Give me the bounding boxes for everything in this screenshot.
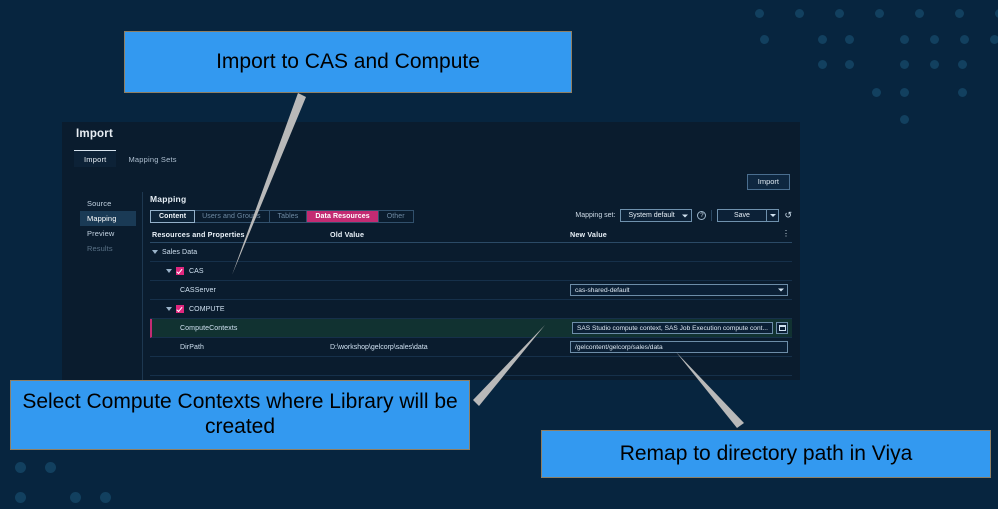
filter-tables[interactable]: Tables [270,211,308,222]
toolbar-divider [711,210,712,221]
resource-label: ComputeContexts [180,325,238,332]
table-row[interactable] [150,357,792,376]
page-title: Import [76,128,113,140]
background-dot [845,35,854,44]
new-value-input-browse[interactable]: SAS Studio compute context, SAS Job Exec… [572,322,773,334]
background-dot [900,60,909,69]
checkbox-checked-icon[interactable] [176,305,184,313]
callout-remap-directory: Remap to directory path in Viya [541,430,991,478]
table-header-row: Resources and Properties Old Value New V… [150,228,792,243]
filter-content[interactable]: Content [150,210,195,223]
more-options-icon[interactable]: ⋮ [782,230,790,237]
mapping-heading: Mapping [150,194,792,204]
column-header-new-value: New Value [570,230,607,239]
wizard-step-source[interactable]: Source [80,196,136,211]
mapping-set-toolbar: Mapping set: System default ? Save ↺ [575,209,792,222]
background-dot [875,9,884,18]
filter-other[interactable]: Other [379,211,413,222]
cell-resource: CAS [152,262,204,280]
filter-row: Content Users and Groups Tables Data Res… [150,210,792,224]
background-dot [958,88,967,97]
cell-resource: CASServer [152,281,216,299]
mapping-set-label: Mapping set: [575,212,615,219]
background-dot [958,60,967,69]
new-value-text: SAS Studio compute context, SAS Job Exec… [577,325,768,332]
wizard-step-rail: Source Mapping Preview Results [80,196,136,256]
background-dot [900,115,909,124]
cell-old-value: D:\workshop\gelcorp\sales\data [330,338,428,356]
background-dot [900,35,909,44]
table-body: Sales DataCASCASServercas-shared-default… [150,243,792,380]
cell-new-value: cas-shared-default [570,281,788,299]
app-body: Import Source Mapping Preview Results Ma… [62,170,800,380]
chevron-down-icon [778,289,784,292]
cell-new-value: /gelcontent/gelcorp/sales/data [570,338,788,356]
cell-new-value: SAS Studio compute context, SAS Job Exec… [572,319,788,337]
wizard-step-mapping[interactable]: Mapping [80,211,136,226]
rail-divider [142,192,143,380]
background-dot [70,492,81,503]
table-row[interactable]: Sales Data [150,243,792,262]
chevron-down-icon [682,214,688,217]
mapping-table: Resources and Properties Old Value New V… [150,228,792,380]
background-dot [795,9,804,18]
cell-new-value [570,376,788,380]
new-value-input[interactable]: /gelcontent/gelcorp/sales/data [570,341,788,353]
background-dot [845,60,854,69]
background-dot [900,88,909,97]
table-row[interactable]: CASServercas-shared-default [150,281,792,300]
resource-label: COMPUTE [189,306,225,313]
mapping-set-select[interactable]: System default [620,209,692,222]
table-row[interactable]: DirPathD:\workshop\gelcorp\sales\data/ge… [150,338,792,357]
filter-data-resources[interactable]: Data Resources [307,211,378,222]
background-dot [15,462,26,473]
folder-icon [779,325,786,331]
cell-resource: DirPath [152,338,204,356]
background-dot [872,88,881,97]
filter-users-and-groups[interactable]: Users and Groups [194,211,269,222]
background-dot [818,35,827,44]
cell-resource: Sales Data [152,243,197,261]
table-row[interactable]: COMPUTE [150,300,792,319]
background-dot [930,35,939,44]
top-tab-bar: Import Mapping Sets [74,150,187,167]
background-dot [818,60,827,69]
background-dot [755,9,764,18]
tab-mapping-sets[interactable]: Mapping Sets [118,151,186,167]
background-dot [955,9,964,18]
background-dot [760,35,769,44]
background-dot [915,9,924,18]
column-header-old-value: Old Value [330,230,364,239]
cell-new-value [570,243,788,261]
background-dot [990,35,998,44]
new-value-control: /gelcontent/gelcorp/sales/data [570,341,788,353]
resource-label: DirPath [180,344,204,351]
background-dot [930,60,939,69]
column-header-resources: Resources and Properties [152,230,245,239]
resource-filter-group: Content Users and Groups Tables Data Res… [150,210,414,223]
background-dot [15,492,26,503]
new-value-control: cas-shared-default [570,284,788,296]
tab-import[interactable]: Import [74,150,116,167]
background-dot [100,492,111,503]
import-application-window: Import Import Mapping Sets Import Source… [62,122,800,380]
new-value-select[interactable]: cas-shared-default [570,284,788,296]
callout-select-compute-contexts: Select Compute Contexts where Library wi… [10,380,470,450]
expand-collapse-icon[interactable] [166,307,172,311]
background-dot [45,462,56,473]
mapping-set-value: System default [628,212,674,219]
cell-resource: ComputeContexts [152,319,238,337]
checkbox-checked-icon[interactable] [176,267,184,275]
revert-icon[interactable]: ↺ [784,211,792,220]
background-dot [835,9,844,18]
table-row[interactable]: ComputeContextsSAS Studio compute contex… [150,319,792,338]
table-row[interactable]: CAS [150,262,792,281]
mapping-panel: Mapping Content Users and Groups Tables … [150,194,792,224]
callout-import-to-cas: Import to CAS and Compute [124,31,572,93]
cell-new-value [570,262,788,280]
save-dropdown-toggle[interactable] [766,209,778,222]
cell-new-value [570,357,788,375]
browse-folder-button[interactable] [776,322,788,334]
resource-label: Sales Data [162,249,197,256]
new-value-text: cas-shared-default [575,287,630,294]
wizard-step-results: Results [80,241,136,256]
expand-collapse-icon[interactable] [152,250,158,254]
background-dot [960,35,969,44]
resource-label: CASServer [180,287,216,294]
new-value-text: /gelcontent/gelcorp/sales/data [575,344,663,351]
chevron-down-icon [770,214,776,217]
wizard-step-preview[interactable]: Preview [80,226,136,241]
help-icon[interactable]: ? [697,211,706,220]
import-button[interactable]: Import [747,174,790,190]
resource-label: CAS [189,268,204,275]
new-value-control: SAS Studio compute context, SAS Job Exec… [572,322,788,334]
expand-collapse-icon[interactable] [166,269,172,273]
cell-resource: COMPUTE [152,300,225,318]
cell-new-value [570,300,788,318]
save-button-label: Save [734,212,750,219]
save-button[interactable]: Save [717,209,779,222]
